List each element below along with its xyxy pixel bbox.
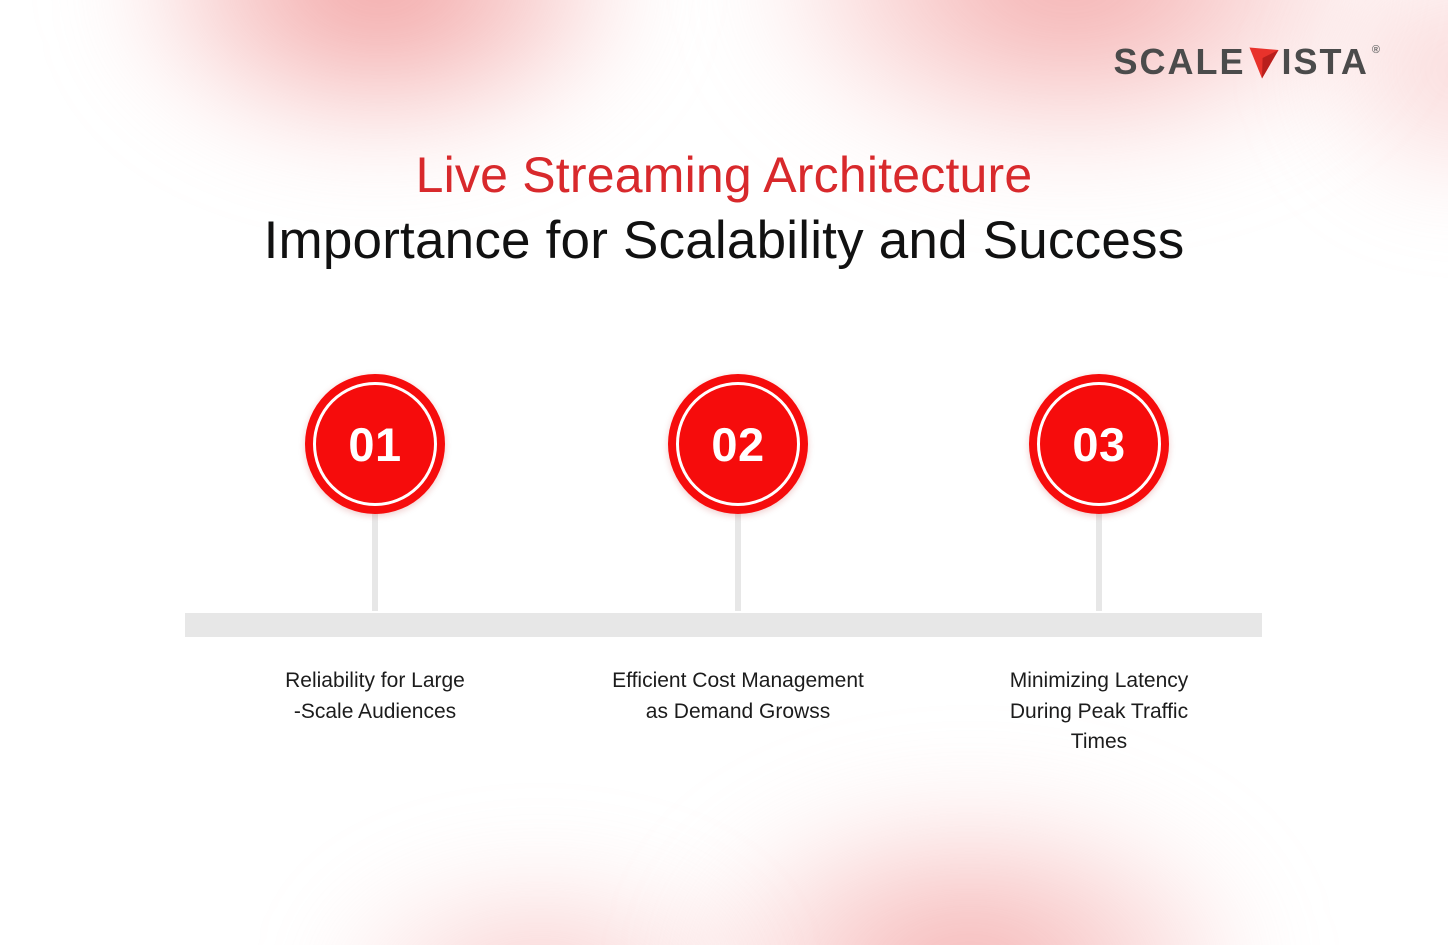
timeline: 01 Reliability for Large -Scale Audience… [0,0,1448,945]
step-number-01: 01 [305,374,445,514]
step-caption-02-line-2: as Demand Growss [563,697,913,728]
step-caption-03-line-1: Minimizing Latency [924,666,1274,697]
timeline-stem-02 [735,510,741,611]
infographic-canvas: SCALE ISTA ® Live Streaming Architecture… [0,0,1448,945]
step-caption-03: Minimizing Latency During Peak Traffic T… [924,666,1274,758]
step-caption-03-line-3: Times [924,727,1274,758]
timeline-stem-01 [372,510,378,611]
step-caption-01-line-1: Reliability for Large [200,666,550,697]
timeline-bubble-01[interactable]: 01 [305,374,445,514]
timeline-bubble-02[interactable]: 02 [668,374,808,514]
step-caption-03-line-2: During Peak Traffic [924,697,1274,728]
step-caption-01: Reliability for Large -Scale Audiences [200,666,550,727]
step-caption-01-line-2: -Scale Audiences [200,697,550,728]
step-number-02: 02 [668,374,808,514]
step-caption-02-line-1: Efficient Cost Management [563,666,913,697]
timeline-bubble-03[interactable]: 03 [1029,374,1169,514]
step-number-03: 03 [1029,374,1169,514]
timeline-stem-03 [1096,510,1102,611]
step-caption-02: Efficient Cost Management as Demand Grow… [563,666,913,727]
timeline-rail [185,613,1262,637]
